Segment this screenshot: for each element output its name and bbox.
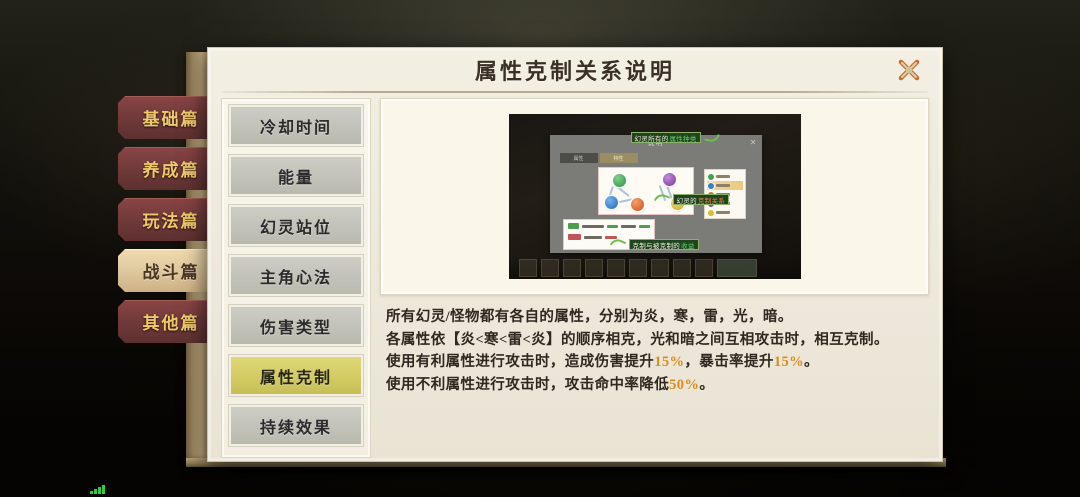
embedded-slot: [673, 259, 691, 277]
embedded-tab-attribute: 属性: [560, 153, 598, 163]
menu-item-damage-type[interactable]: 伤害类型: [229, 305, 363, 346]
callout-prefix: 克制与被克制的: [633, 240, 681, 250]
menu-item-label: 属性克制: [260, 364, 332, 388]
element-label: [716, 184, 730, 187]
restraint-text: [582, 225, 604, 228]
description-line-3c: 。: [804, 354, 819, 370]
restrained-text: [584, 236, 602, 239]
menu-item-label: 伤害类型: [260, 314, 332, 338]
element-relationship-wheel: [598, 167, 694, 215]
restraint-value: [639, 225, 649, 228]
restraint-text: [621, 225, 637, 228]
embedded-slot: [695, 259, 713, 277]
description-line-1: 所有幻灵/怪物都有各自的属性，分别为炎，寒，雷，光，暗。: [386, 306, 929, 329]
callout-prefix: 幻灵所有的: [635, 133, 669, 143]
menu-item-protagonist-arts[interactable]: 主角心法: [229, 255, 363, 296]
attribute-restraint-tutorial-screenshot: 说明 ✕ 属性 特性: [509, 114, 801, 279]
embedded-slot: [585, 259, 603, 277]
title-separator: [222, 91, 928, 93]
element-icon: [708, 183, 714, 189]
callout-restraint-relationship: 幻灵的 克制关系: [673, 194, 730, 205]
embedded-slot: [541, 259, 559, 277]
description-line-4b: 。: [699, 377, 714, 393]
embedded-slot: [607, 259, 625, 277]
description-line-3b: ，暴击率提升: [684, 354, 773, 370]
page-title: 属性克制关系说明: [475, 54, 675, 86]
crit-bonus-value: 15%: [774, 354, 804, 370]
callout-attribute-types: 幻灵所有的 属性种类: [631, 132, 701, 143]
element-node-dark: [663, 173, 676, 186]
embedded-action-button: [717, 259, 757, 277]
menu-item-label: 主角心法: [260, 264, 332, 288]
embedded-modal: 说明 ✕ 属性 特性: [550, 135, 762, 253]
embedded-slot: [563, 259, 581, 277]
menu-item-label: 幻灵站位: [260, 214, 332, 238]
damage-bonus-value: 15%: [654, 354, 684, 370]
restraint-value: [607, 225, 617, 228]
callout-restraint-benefit: 克制与被克制的 收益: [629, 239, 699, 250]
element-list-row: [707, 172, 743, 181]
menu-item-label: 持续效果: [260, 414, 332, 438]
description-text: 所有幻灵/怪物都有各自的属性，分别为炎，寒，雷，光，暗。 各属性依【炎<寒<雷<…: [380, 306, 929, 396]
element-label: [716, 175, 730, 178]
embedded-slot: [629, 259, 647, 277]
embedded-tab-trait: 特性: [600, 153, 638, 163]
element-icon: [708, 174, 714, 180]
rail-tab-label: 战斗篇: [143, 258, 200, 283]
panel-titlebar: 属性克制关系说明: [208, 48, 942, 92]
close-icon[interactable]: [895, 56, 923, 84]
help-panel: 属性克制关系说明 冷却时间 能量 幻灵站位 主角心法: [207, 47, 943, 462]
restrained-value: [605, 236, 617, 239]
element-list-row: [707, 181, 743, 190]
menu-item-label: 冷却时间: [260, 114, 332, 138]
element-node-thunder: [613, 174, 626, 187]
restrained-badge: [568, 234, 581, 240]
close-x-glyph: [895, 56, 923, 84]
description-line-4: 使用不利属性进行攻击时，攻击命中率降低50%。: [386, 374, 929, 397]
callout-prefix: 幻灵的: [677, 195, 697, 205]
callout-highlight: 收益: [681, 240, 695, 250]
embedded-tab-label: 属性: [573, 155, 583, 162]
tutorial-image-frame: 说明 ✕ 属性 特性: [380, 98, 929, 295]
embedded-close-icon: ✕: [750, 139, 757, 147]
signal-bars-icon: [90, 485, 105, 494]
menu-item-lasting-effect[interactable]: 持续效果: [229, 405, 363, 446]
embedded-tab-label: 特性: [613, 155, 623, 162]
callout-highlight: 克制关系: [698, 195, 725, 205]
menu-item-cooldown[interactable]: 冷却时间: [229, 105, 363, 146]
description-line-4a: 使用不利属性进行攻击时，攻击命中率降低: [386, 377, 669, 393]
element-list-row: [707, 208, 743, 217]
description-line-2: 各属性依【炎<寒<雷<炎】的顺序相克，光和暗之间互相攻击时，相互克制。: [386, 329, 929, 352]
restraint-badge: [568, 223, 579, 229]
restraint-bonus-row: [568, 223, 650, 229]
element-icon: [708, 210, 714, 216]
topic-menu-list: 冷却时间 能量 幻灵站位 主角心法 伤害类型 属性克制 持续效果: [221, 98, 371, 458]
callout-highlight: 属性种类: [670, 133, 697, 143]
rail-tab-label: 其他篇: [143, 309, 200, 334]
menu-item-energy[interactable]: 能量: [229, 155, 363, 196]
embedded-slot: [651, 259, 669, 277]
menu-item-attribute-restraint[interactable]: 属性克制: [229, 355, 363, 396]
rail-tab-label: 养成篇: [143, 156, 200, 181]
element-node-flame: [631, 198, 644, 211]
element-node-ice: [605, 196, 618, 209]
description-line-3: 使用有利属性进行攻击时，造成伤害提升15%，暴击率提升15%。: [386, 351, 929, 374]
rail-tab-label: 基础篇: [143, 105, 200, 130]
embedded-slot: [519, 259, 537, 277]
element-label: [716, 211, 730, 214]
topic-content: 说明 ✕ 属性 特性: [380, 98, 929, 456]
rail-tab-label: 玩法篇: [143, 207, 200, 232]
description-line-3a: 使用有利属性进行攻击时，造成伤害提升: [386, 354, 654, 370]
menu-item-spirit-position[interactable]: 幻灵站位: [229, 205, 363, 246]
menu-item-label: 能量: [278, 164, 314, 188]
accuracy-penalty-value: 50%: [669, 377, 699, 393]
